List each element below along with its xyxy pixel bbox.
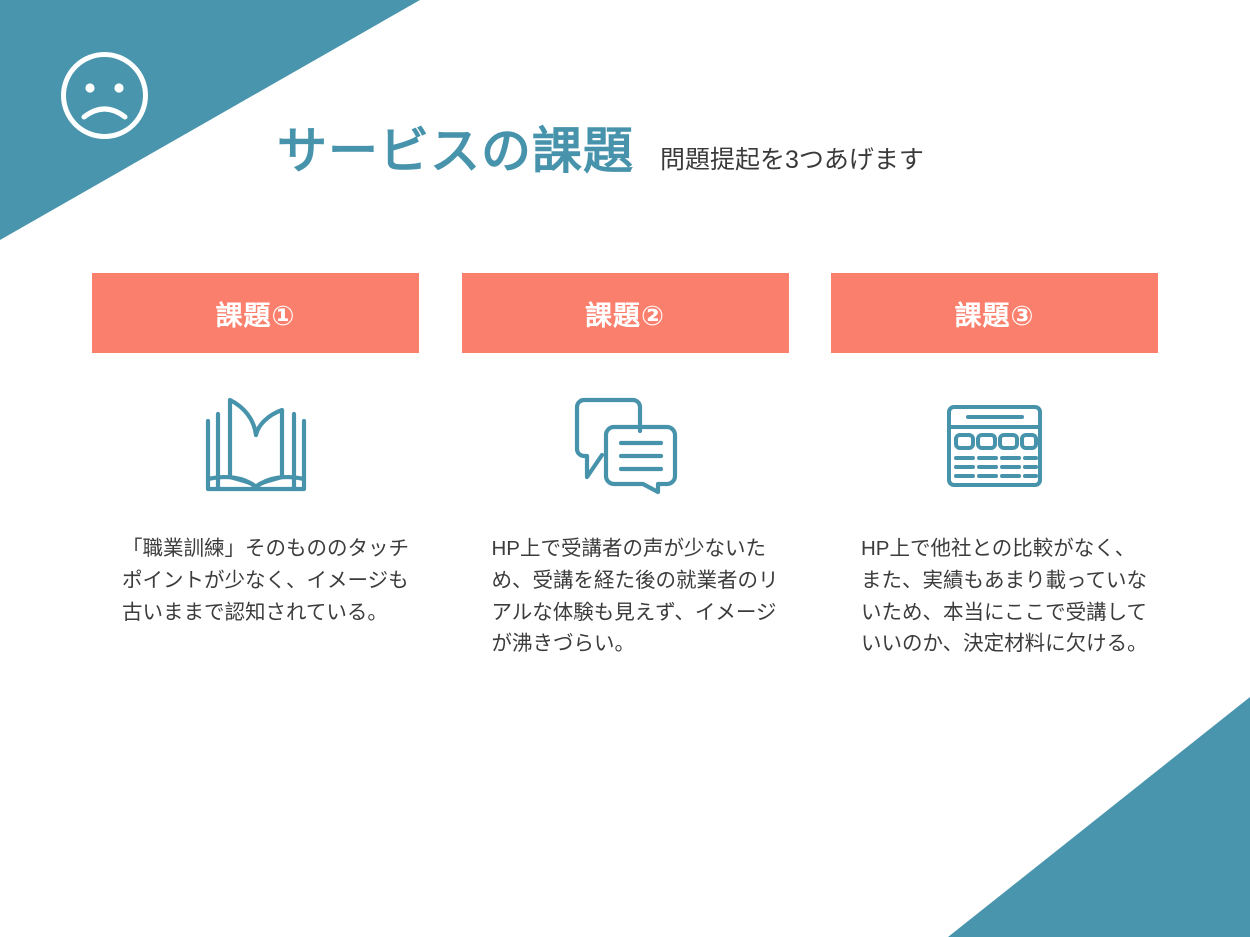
sad-face-icon — [57, 48, 152, 143]
page-subtitle: 問題提起を3つあげます — [660, 148, 924, 173]
speech-bubbles-icon — [568, 391, 683, 499]
issue-body-2: HP上で受講者の声が少ないため、受講を経た後の就業者のリアルな体験も見えず、イメ… — [492, 533, 780, 660]
open-book-icon — [196, 391, 316, 499]
issue-body-1: 「職業訓練」そのもののタッチポイントが少なく、イメージも古いままで認知されている… — [122, 533, 410, 628]
title-row: サービスの課題 問題提起を3つあげます — [277, 126, 924, 176]
issue-body-3: HP上で他社との比較がなく、また、実績もあまり載っていないため、本当にここで受講… — [861, 533, 1149, 660]
issue-header-label-2: 課題② — [585, 294, 665, 333]
issue-column-3: 課題③ HP上で他社との比較がなく、また、実績もあまり載っていないため、本当にこ… — [831, 273, 1158, 660]
comparison-table-icon — [942, 391, 1047, 499]
slide-canvas: サービスの課題 問題提起を3つあげます 課題① 「職業訓練」そのもののタッチポイ… — [0, 0, 1250, 937]
page-title: サービスの課題 — [277, 126, 634, 176]
issues-columns: 課題① 「職業訓練」そのもののタッチポイントが少なく、イメージも古いままで認知さ… — [92, 273, 1158, 660]
issue-header-1: 課題① — [92, 273, 419, 353]
issue-column-2: 課題② HP上で受講者の声が少ないため、受講を経た後の就業者のリアルな体験も見え… — [462, 273, 789, 660]
bottom-right-accent-triangle — [948, 697, 1250, 937]
issue-column-1: 課題① 「職業訓練」そのもののタッチポイントが少なく、イメージも古いままで認知さ… — [92, 273, 419, 660]
issue-header-label-3: 課題③ — [955, 294, 1035, 333]
issue-header-label-1: 課題① — [216, 294, 296, 333]
issue-header-2: 課題② — [462, 273, 789, 353]
issue-header-3: 課題③ — [831, 273, 1158, 353]
